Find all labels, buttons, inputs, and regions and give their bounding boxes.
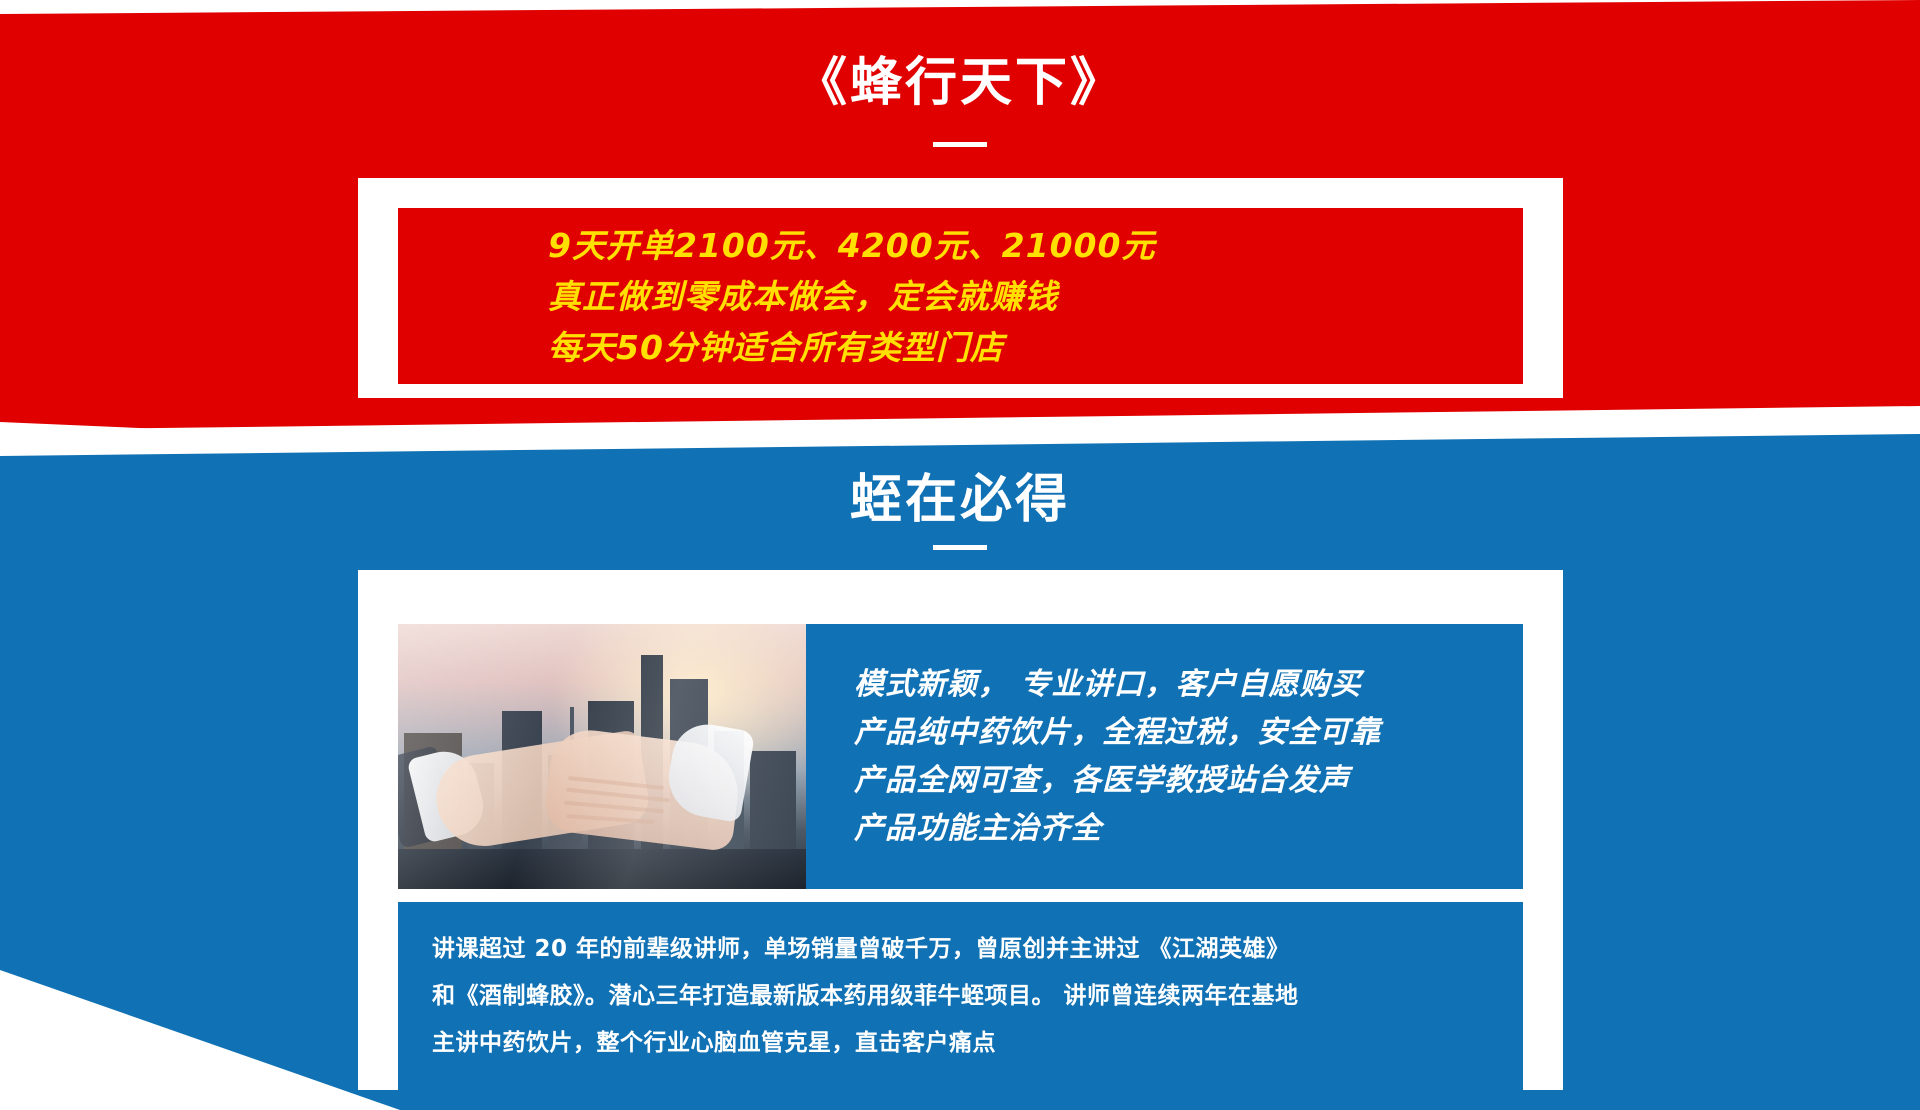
double-exposure-haze [398,624,806,889]
feature-line-1: 模式新颖， 专业讲口，客户自愿购买 [854,661,1523,709]
blue-title-underline [933,545,987,550]
highlight-line-2: 真正做到零成本做会，定会就赚钱 [548,271,1523,322]
highlight-line-3: 每天50分钟适合所有类型门店 [548,322,1523,373]
feature-text-panel: 模式新颖， 专业讲口，客户自愿购买 产品纯中药饮片，全程过税，安全可靠 产品全网… [806,624,1523,889]
bio-line-2: 和《酒制蜂胶》。潜心三年打造最新版本药用级菲牛蛭项目。 讲师曾连续两年在基地 [432,973,1523,1020]
feature-line-3: 产品全网可查，各医学教授站台发声 [854,757,1523,805]
handshake-cityscape-photo [398,624,806,889]
red-section-title: 《蜂行天下》 [0,40,1920,115]
feature-line-4: 产品功能主治齐全 [854,805,1523,853]
feature-line-2: 产品纯中药饮片，全程过税，安全可靠 [854,709,1523,757]
highlight-line-1: 9天开单2100元、4200元、21000元 [548,220,1523,271]
blue-section-title: 蛭在必得 [0,457,1920,532]
bio-line-1: 讲课超过 20 年的前辈级讲师，单场销量曾破千万，曾原创并主讲过 《江湖英雄》 [432,926,1523,973]
feature-row: 模式新颖， 专业讲口，客户自愿购买 产品纯中药饮片，全程过税，安全可靠 产品全网… [398,624,1523,889]
bio-line-3: 主讲中药饮片，整个行业心脑血管克星，直击客户痛点 [432,1020,1523,1067]
highlight-panel: 9天开单2100元、4200元、21000元 真正做到零成本做会，定会就赚钱 每… [398,208,1523,384]
red-title-underline [933,142,987,147]
instructor-bio-panel: 讲课超过 20 年的前辈级讲师，单场销量曾破千万，曾原创并主讲过 《江湖英雄》 … [398,902,1523,1090]
